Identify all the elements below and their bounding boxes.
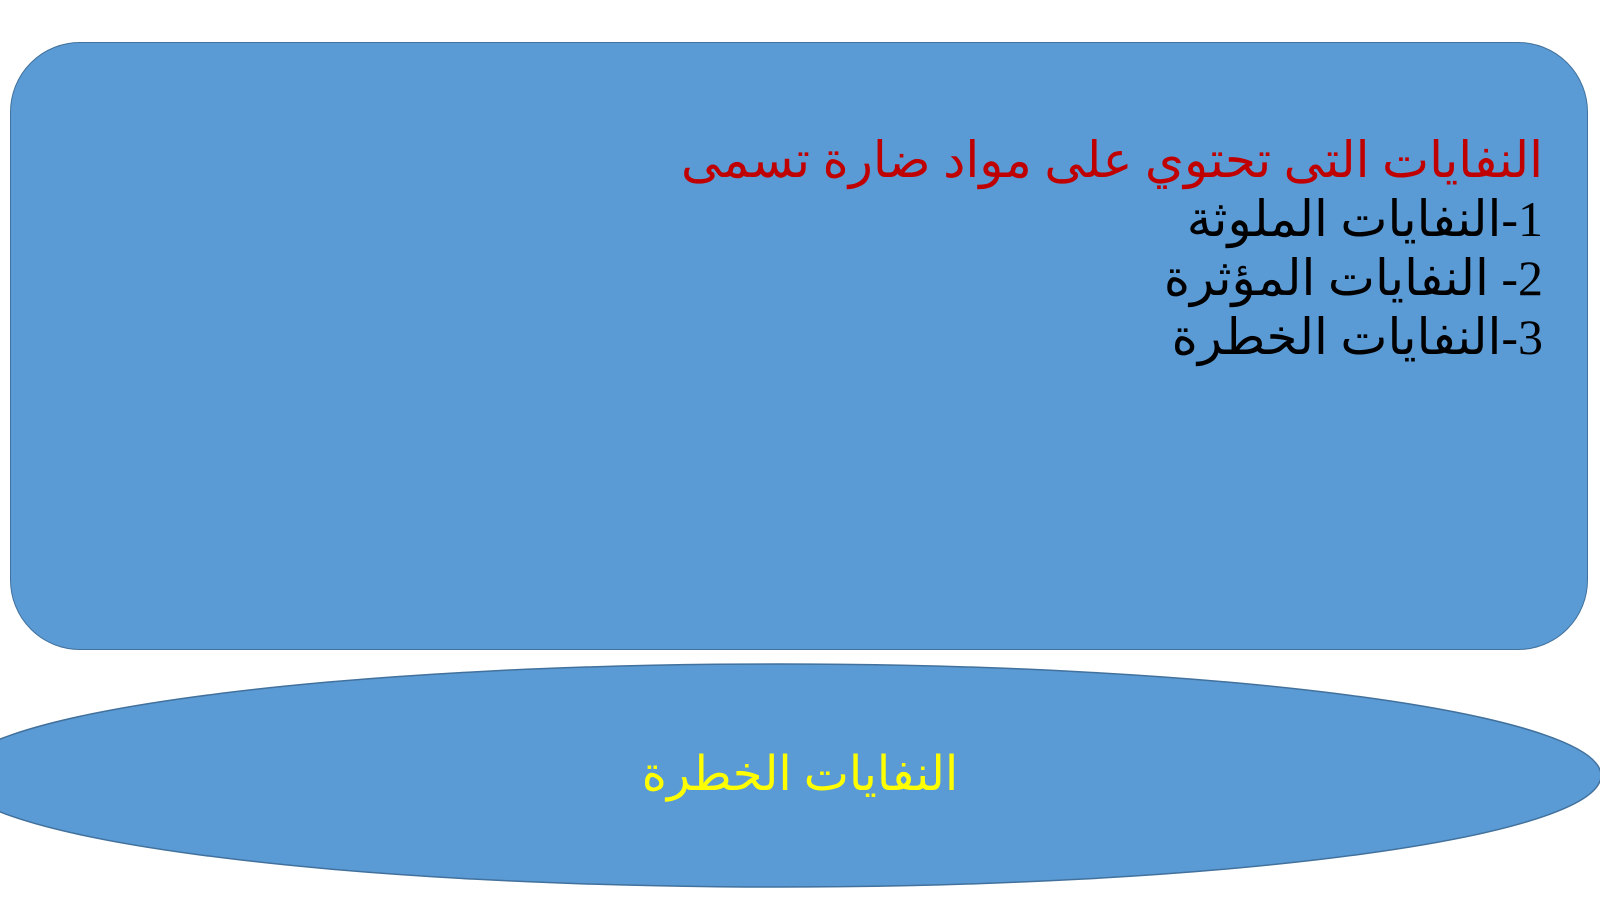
ellipse-outline-icon	[0, 664, 1600, 887]
answer-option-1[interactable]: 1-النفايات الملوثة	[51, 190, 1543, 249]
rounded-rectangle-shape[interactable]: النفايات التى تحتوي على مواد ضارة تسمى 1…	[10, 42, 1588, 650]
answer-option-2[interactable]: 2- النفايات المؤثرة	[51, 249, 1543, 308]
rounded-rectangle-text-block: النفايات التى تحتوي على مواد ضارة تسمى 1…	[51, 131, 1543, 367]
slide-canvas: النفايات التى تحتوي على مواد ضارة تسمى 1…	[0, 0, 1600, 900]
answer-option-3[interactable]: 3-النفايات الخطرة	[51, 308, 1543, 367]
ellipse-shape[interactable]	[0, 663, 1600, 888]
question-title: النفايات التى تحتوي على مواد ضارة تسمى	[51, 131, 1543, 190]
